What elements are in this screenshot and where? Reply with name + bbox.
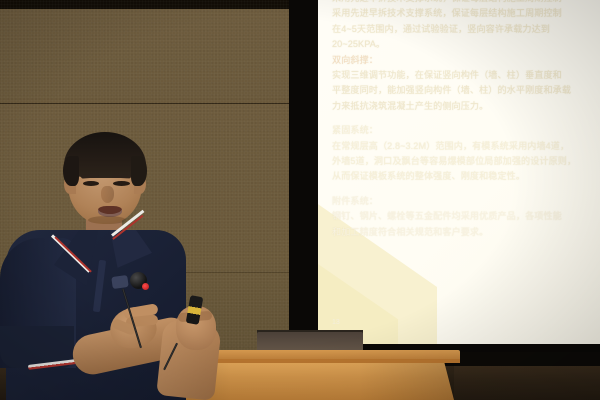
- chin-shadow: [88, 216, 126, 224]
- eye-left: [83, 181, 99, 186]
- slide-heading: 双向斜撑：: [332, 53, 594, 68]
- presentation-photo: 采用先进早拆技术支撑系统，保证每层结构施工周期控制 采用先进早拆技术支撑系统，保…: [0, 0, 600, 400]
- projection-screen-frame: 采用先进早拆技术支撑系统，保证每层结构施工周期控制 采用先进早拆技术支撑系统，保…: [289, 0, 600, 352]
- slide-text-block: 采用先进早拆技术支撑系统，保证每层结构施工周期控制 采用先进早拆技术支撑系统，保…: [332, 0, 594, 240]
- slide-line: 从而保证模板系统的整体强度、刚度和稳定性。: [332, 169, 594, 184]
- slide-line: 20~25KPA。: [332, 37, 594, 52]
- slide-spacer: [332, 185, 594, 194]
- slide-spacer: [332, 114, 594, 123]
- slide-line: 外墙5道，洞口及飘台等容易爆模部位局部加强的设计原则，: [332, 154, 594, 169]
- slide-line: 在常规层高（2.8~3.2M）范围内，有模系统采用内墙4道，: [332, 139, 594, 154]
- microphone-indicator-light: [142, 283, 149, 290]
- slide-line: 钢钉、钢片、螺栓等五金配件均采用优质产品，各项性能: [332, 209, 594, 224]
- nose: [101, 186, 114, 203]
- hair-side-right: [131, 156, 147, 186]
- slide-line: 在4~5天范围内，通过试验验证，竖向容许承载力达到: [332, 22, 594, 37]
- eye-right: [113, 181, 130, 186]
- slide-line: 和加工精度符合相关规范和客户要求。: [332, 225, 594, 240]
- chest-pocket-detail: [111, 275, 129, 289]
- wall-top-shadow: [0, 0, 320, 9]
- hair-side-left: [63, 156, 79, 186]
- presenter: [0, 130, 250, 400]
- slide-line: 采用先进早拆技术支撑系统，保证每层结构施工周期控制: [332, 6, 594, 21]
- slide-line: 力来抵抗浇筑混凝土产生的侧向压力。: [332, 99, 594, 114]
- slide-heading: 紧固系统：: [332, 123, 594, 138]
- projection-screen: 采用先进早拆技术支撑系统，保证每层结构施工周期控制 采用先进早拆技术支撑系统，保…: [318, 0, 600, 344]
- slide-heading: 附件系统：: [332, 194, 594, 209]
- slide-line: 平整度同时，能加强竖向构件（墙、柱）的水平刚度和承载: [332, 83, 594, 98]
- slide-line: 实现三维调节功能，在保证竖向构件（墙、柱）垂直度和: [332, 68, 594, 83]
- slide-page-number: 13: [332, 319, 340, 326]
- wall-panel-seam: [0, 103, 320, 104]
